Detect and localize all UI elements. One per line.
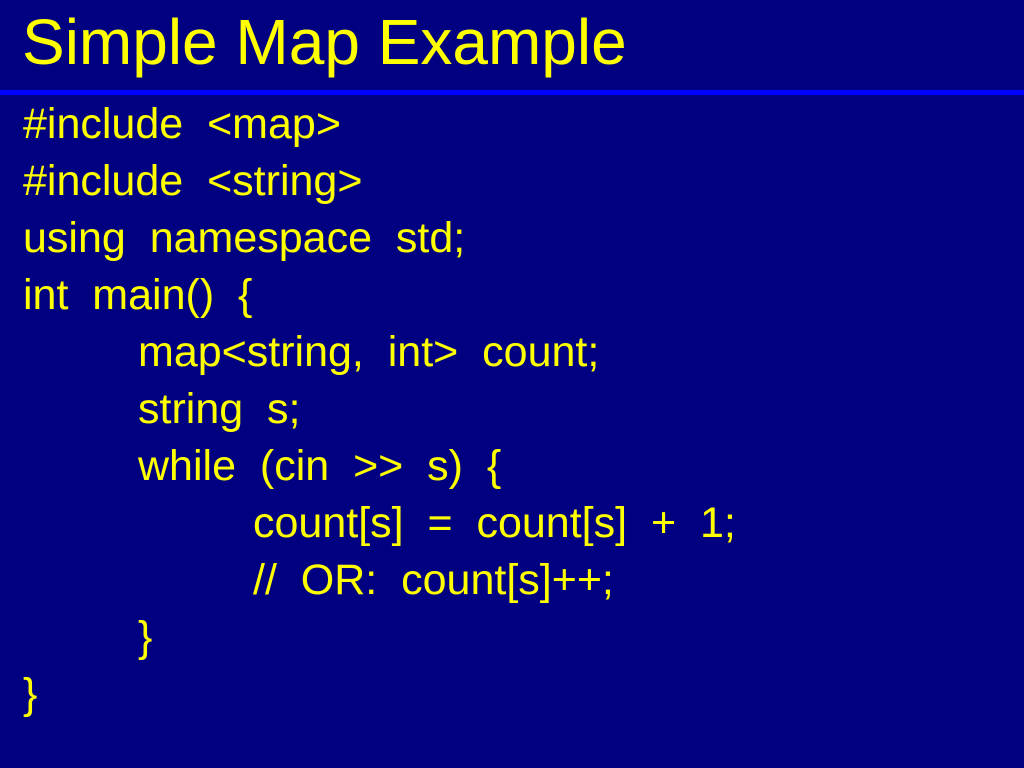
code-line: count[s] = count[s] + 1; [253,498,736,548]
code-line: // OR: count[s]++; [253,555,614,605]
code-line: } [138,612,152,662]
slide-title-bar: Simple Map Example [0,0,1024,90]
page-title: Simple Map Example [22,4,627,80]
slide: Simple Map Example #include <map>#includ… [0,0,1024,768]
code-line: int main() { [23,270,252,320]
code-line: string s; [138,384,301,434]
title-divider-rule [0,90,1024,95]
code-block: #include <map>#include <string>using nam… [0,99,1024,759]
code-line: while (cin >> s) { [138,441,501,491]
code-line: map<string, int> count; [138,327,599,377]
code-line: using namespace std; [23,213,465,263]
code-line: #include <string> [23,156,362,206]
code-line: #include <map> [23,99,341,149]
code-line: } [23,669,37,719]
